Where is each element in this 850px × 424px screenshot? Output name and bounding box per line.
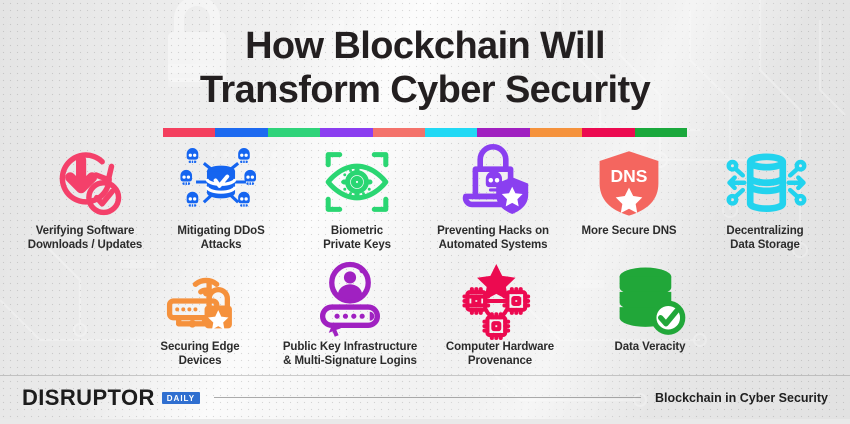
benefit-label-verifying-software-downloads-updates: Verifying SoftwareDownloads / Updates [28, 224, 142, 253]
benefits-row-2: Securing EdgeDevices Public Key Infrastr… [0, 265, 850, 369]
header: How Blockchain Will Transform Cyber Secu… [0, 24, 850, 137]
footer: DISRUPTOR DAILY Blockchain in Cyber Secu… [0, 375, 850, 419]
footer-tagline: Blockchain in Cyber Security [655, 391, 828, 405]
dns-shield-icon: DNS [563, 143, 695, 221]
benefit-label-preventing-hacks-on-automated-systems: Preventing Hacks onAutomated Systems [437, 224, 549, 253]
benefit-card-data-veracity[interactable]: Data Veracity [575, 265, 725, 369]
footer-divider [214, 397, 641, 398]
benefit-label-data-veracity: Data Veracity [615, 340, 686, 354]
accent-bar-segment-9 [582, 128, 634, 137]
accent-bar-segment-3 [268, 128, 320, 137]
benefit-card-decentralizing-data-storage[interactable]: DecentralizingData Storage [697, 143, 833, 253]
benefit-card-more-secure-dns[interactable]: DNS More Secure DNS [561, 143, 697, 253]
benefit-label-line-2: & Multi-Signature Logins [283, 354, 417, 368]
logo-wordmark: DISRUPTOR [22, 385, 155, 411]
benefit-label-line-1: Biometric [323, 224, 391, 238]
accent-bar-segment-1 [163, 128, 215, 137]
benefit-label-line-1: More Secure DNS [581, 224, 676, 238]
database-check-icon [577, 265, 723, 337]
database-skulls-icon [155, 143, 287, 221]
page-title-line-1: How Blockchain Will [0, 24, 850, 68]
benefit-label-line-2: Private Keys [323, 238, 391, 252]
benefit-label-mitigating-ddos-attacks: Mitigating DDoSAttacks [177, 224, 264, 253]
benefits-row-1: Verifying SoftwareDownloads / Updates [0, 143, 850, 253]
benefit-label-line-1: Verifying Software [28, 224, 142, 238]
accent-bar-segment-6 [425, 128, 477, 137]
accent-color-bar [163, 128, 687, 137]
benefit-card-preventing-hacks-on-automated-systems[interactable]: Preventing Hacks onAutomated Systems [425, 143, 561, 253]
benefit-label-line-1: Preventing Hacks on [437, 224, 549, 238]
benefit-label-line-2: Devices [160, 354, 239, 368]
accent-bar-segment-2 [215, 128, 267, 137]
benefit-label-line-1: Decentralizing [726, 224, 803, 238]
benefit-label-line-1: Securing Edge [160, 340, 239, 354]
benefit-card-securing-edge-devices[interactable]: Securing EdgeDevices [125, 265, 275, 369]
benefit-label-public-key-infrastructure-multi-signature-logins: Public Key Infrastructure& Multi-Signatu… [283, 340, 417, 369]
benefit-label-line-1: Mitigating DDoS [177, 224, 264, 238]
benefit-label-line-2: Downloads / Updates [28, 238, 142, 252]
router-lock-icon [127, 265, 273, 337]
database-network-arrows-icon [699, 143, 831, 221]
benefit-label-securing-edge-devices: Securing EdgeDevices [160, 340, 239, 369]
benefit-label-more-secure-dns: More Secure DNS [581, 224, 676, 238]
benefit-label-line-2: Automated Systems [437, 238, 549, 252]
accent-bar-segment-10 [635, 128, 687, 137]
accent-bar-segment-8 [530, 128, 582, 137]
laptop-lock-shield-icon [427, 143, 559, 221]
benefit-label-computer-hardware-provenance: Computer HardwareProvenance [446, 340, 554, 369]
benefit-label-line-1: Computer Hardware [446, 340, 554, 354]
benefit-label-line-1: Data Veracity [615, 340, 686, 354]
benefit-card-biometric-private-keys[interactable]: BiometricPrivate Keys [289, 143, 425, 253]
benefit-card-public-key-infrastructure-multi-signature-logins[interactable]: Public Key Infrastructure& Multi-Signatu… [275, 265, 425, 369]
accent-bar-segment-4 [320, 128, 372, 137]
page-title-line-2: Transform Cyber Security [0, 68, 850, 112]
user-password-icon [277, 265, 423, 337]
disruptor-daily-logo[interactable]: DISRUPTOR DAILY [22, 385, 200, 411]
svg-text:DNS: DNS [611, 166, 648, 186]
benefits-grid: Verifying SoftwareDownloads / Updates [0, 143, 850, 369]
benefit-card-mitigating-ddos-attacks[interactable]: Mitigating DDoSAttacks [153, 143, 289, 253]
logo-daily-badge: DAILY [162, 392, 200, 404]
benefit-card-computer-hardware-provenance[interactable]: Computer HardwareProvenance [425, 265, 575, 369]
benefit-label-decentralizing-data-storage: DecentralizingData Storage [726, 224, 803, 253]
benefit-card-verifying-software-downloads-updates[interactable]: Verifying SoftwareDownloads / Updates [17, 143, 153, 253]
benefit-label-line-2: Attacks [177, 238, 264, 252]
download-refresh-check-icon [19, 143, 151, 221]
accent-bar-segment-7 [477, 128, 529, 137]
eye-scanner-icon [291, 143, 423, 221]
accent-bar-segment-5 [373, 128, 425, 137]
benefit-label-line-2: Provenance [446, 354, 554, 368]
benefit-label-line-2: Data Storage [726, 238, 803, 252]
chips-star-icon [427, 265, 573, 337]
benefit-label-line-1: Public Key Infrastructure [283, 340, 417, 354]
benefit-label-biometric-private-keys: BiometricPrivate Keys [323, 224, 391, 253]
